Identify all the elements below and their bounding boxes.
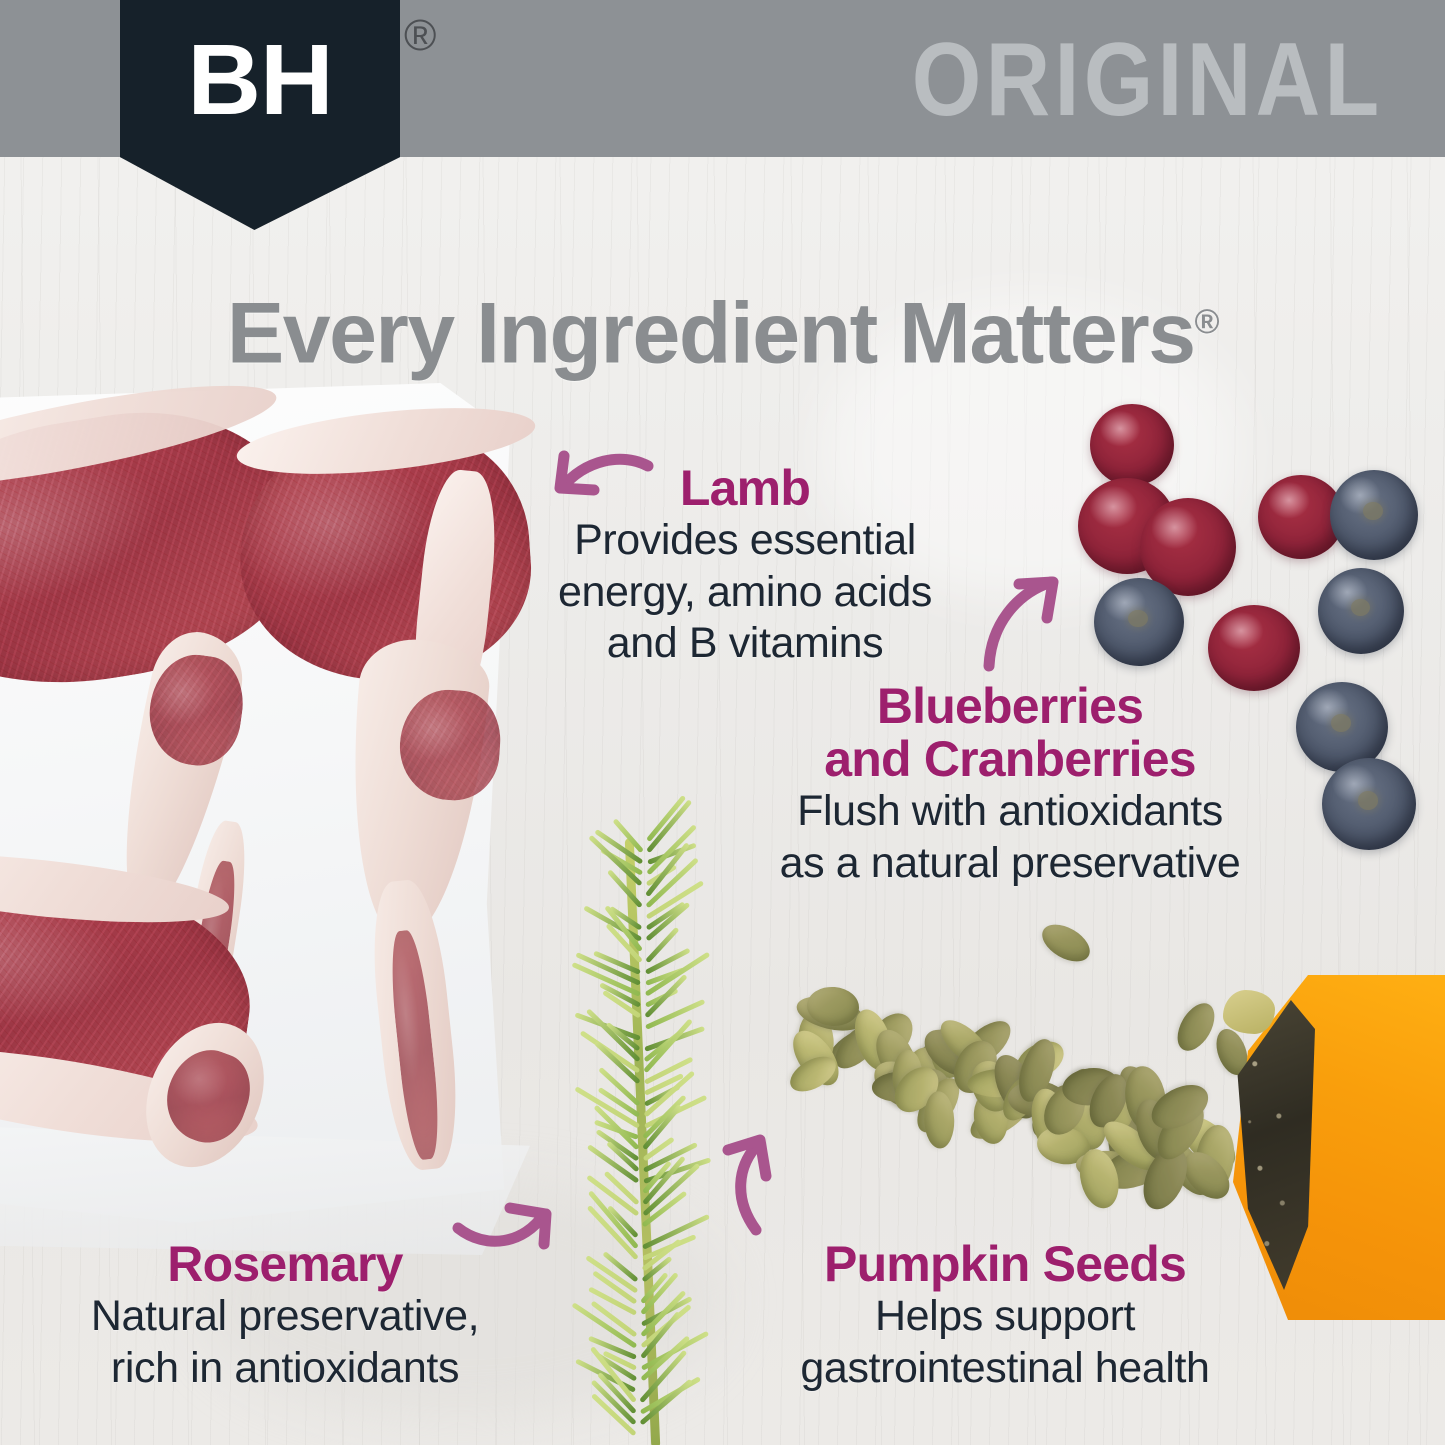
page-title: Every Ingredient Matters®	[0, 276, 1445, 380]
page-title-text: Every Ingredient Matters	[227, 286, 1195, 382]
blueberry	[1094, 578, 1184, 666]
cranberry	[1208, 605, 1300, 691]
callout-rosemary-body: Natural preservative, rich in antioxidan…	[50, 1291, 520, 1394]
infographic-canvas: ORIGINAL BH ® Every Ingredient Matters® …	[0, 0, 1445, 1445]
callout-rosemary: Rosemary Natural preservative, rich in a…	[50, 1238, 520, 1394]
blueberry	[1318, 568, 1404, 654]
cranberry	[1090, 404, 1174, 486]
callout-lamb-body-line: Provides essential	[530, 515, 960, 567]
rosemary-needle	[607, 870, 643, 909]
brand-logo-text: BH	[117, 28, 403, 132]
callout-rosemary-body-line: rich in antioxidants	[50, 1343, 520, 1395]
callout-lamb-body: Provides essential energy, amino acids a…	[530, 515, 960, 670]
brand-registered-mark-icon: ®	[404, 14, 436, 58]
callout-pumpkin-seeds-body-line: Helps support	[740, 1291, 1270, 1343]
headline-registered-mark-icon: ®	[1195, 303, 1219, 341]
callout-rosemary-body-line: Natural preservative,	[50, 1291, 520, 1343]
callout-blueberries-and-cranberries: Blueberries and Cranberries Flush with a…	[740, 680, 1280, 889]
callout-lamb-body-line: energy, amino acids	[530, 567, 960, 619]
callout-lamb-title: Lamb	[530, 462, 960, 515]
callout-berries-title-line: and Cranberries	[740, 733, 1280, 786]
product-line-label: ORIGINAL	[911, 6, 1383, 154]
callout-berries-body: Flush with antioxidants as a natural pre…	[740, 786, 1280, 889]
callout-lamb: Lamb Provides essential energy, amino ac…	[530, 462, 960, 670]
callout-pumpkin-seeds-body-line: gastrointestinal health	[740, 1343, 1270, 1395]
squash-stem	[1223, 990, 1275, 1034]
callout-pumpkin-seeds: Pumpkin Seeds Helps support gastrointest…	[740, 1238, 1270, 1394]
callout-berries-title: Blueberries and Cranberries	[740, 680, 1280, 786]
callout-berries-title-line: Blueberries	[740, 680, 1280, 733]
callout-berries-body-line: as a natural preservative	[740, 838, 1280, 890]
blueberry	[1330, 470, 1418, 560]
callout-lamb-body-line: and B vitamins	[530, 618, 960, 670]
callout-berries-body-line: Flush with antioxidants	[740, 786, 1280, 838]
rosemary-needle	[639, 1379, 692, 1425]
callout-pumpkin-seeds-body: Helps support gastrointestinal health	[740, 1291, 1270, 1394]
callout-rosemary-title: Rosemary	[50, 1238, 520, 1291]
curved-arrow-up-right-icon	[975, 568, 1075, 672]
callout-pumpkin-seeds-title: Pumpkin Seeds	[740, 1238, 1270, 1291]
blueberry	[1322, 758, 1416, 850]
curved-arrow-up-icon	[712, 1128, 812, 1236]
